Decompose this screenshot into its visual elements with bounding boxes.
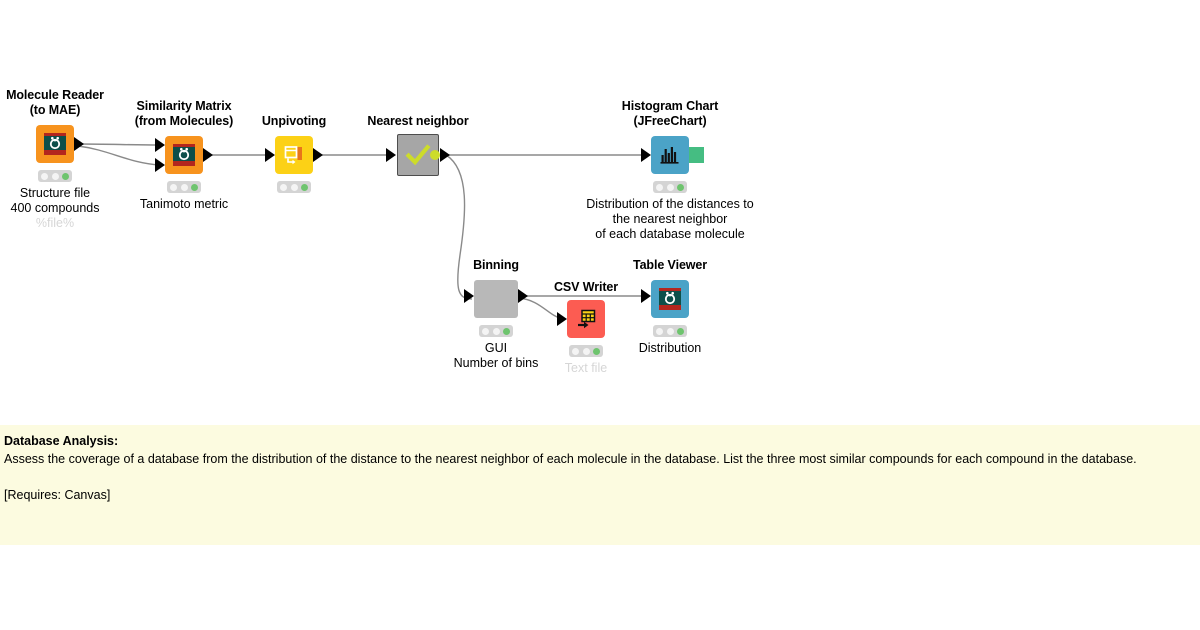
node-title-nearest-neighbor: Nearest neighbor — [367, 114, 468, 129]
node-title-csv-writer: CSV Writer — [554, 280, 618, 295]
node-body-csv-writer[interactable] — [567, 300, 605, 338]
edge-nearest-to-binning — [446, 155, 472, 299]
status-lamp-idle — [656, 328, 663, 335]
workflow-annotation-panel[interactable]: Database Analysis: Assess the coverage o… — [0, 425, 1200, 545]
port-triangle-icon — [386, 148, 396, 162]
molecule-icon — [44, 133, 66, 155]
port-triangle-icon — [155, 138, 165, 152]
status-histogram-chart — [653, 181, 687, 193]
status-lamp-done — [503, 328, 510, 335]
port-triangle-icon — [440, 148, 450, 162]
node-title-similarity-matrix: Similarity Matrix (from Molecules) — [135, 99, 233, 129]
node-body-similarity-matrix[interactable] — [165, 136, 203, 174]
port-triangle-icon — [265, 148, 275, 162]
node-subtitle-molecule-reader: Structure file 400 compounds — [11, 186, 100, 216]
port-variable-dot-icon — [430, 150, 440, 160]
csv-write-icon — [575, 308, 597, 330]
node-subtitle-binning: GUI Number of bins — [454, 341, 539, 371]
status-lamp-done — [677, 328, 684, 335]
node-subtitle-similarity-matrix: Tanimoto metric — [140, 197, 228, 212]
port-triangle-icon — [641, 148, 651, 162]
annotation-spacer — [4, 468, 1196, 486]
node-body-unpivoting[interactable] — [275, 136, 313, 174]
bar-chart-icon — [659, 144, 681, 166]
status-lamp-idle — [656, 184, 663, 191]
port-triangle-icon — [203, 148, 213, 162]
annotation-body: Assess the coverage of a database from t… — [4, 450, 1196, 468]
molecule-icon — [659, 288, 681, 310]
workflow-canvas[interactable]: Molecule Reader (to MAE) Structure file … — [0, 0, 1200, 415]
port-triangle-icon — [464, 289, 474, 303]
check-icon — [405, 142, 431, 168]
status-lamp-running — [667, 184, 674, 191]
status-lamp-running — [181, 184, 188, 191]
port-triangle-icon — [313, 148, 323, 162]
node-title-unpivoting: Unpivoting — [262, 114, 326, 129]
port-triangle-icon — [641, 289, 651, 303]
status-csv-writer — [569, 345, 603, 357]
status-lamp-running — [52, 173, 59, 180]
node-subtitle-histogram-chart: Distribution of the distances to the nea… — [586, 197, 753, 242]
status-lamp-done — [593, 348, 600, 355]
node-body-binning[interactable] — [474, 280, 518, 318]
node-body-histogram-chart[interactable] — [651, 136, 689, 174]
molecule-icon — [173, 144, 195, 166]
status-lamp-idle — [170, 184, 177, 191]
annotation-requires: [Requires: Canvas] — [4, 486, 1196, 504]
status-molecule-reader — [38, 170, 72, 182]
status-lamp-idle — [482, 328, 489, 335]
status-lamp-running — [291, 184, 298, 191]
table-unpivot-icon — [283, 144, 305, 166]
status-lamp-idle — [572, 348, 579, 355]
node-subtitle-table-viewer: Distribution — [639, 341, 702, 356]
status-lamp-running — [493, 328, 500, 335]
port-triangle-icon — [557, 312, 567, 326]
node-variable-molecule-reader: %file% — [36, 216, 74, 231]
status-lamp-idle — [280, 184, 287, 191]
status-binning — [479, 325, 513, 337]
status-table-viewer — [653, 325, 687, 337]
status-similarity-matrix — [167, 181, 201, 193]
status-lamp-idle — [41, 173, 48, 180]
port-triangle-icon — [155, 158, 165, 172]
status-lamp-done — [677, 184, 684, 191]
edge-reader-to-similarity-top — [78, 144, 160, 145]
node-variable-csv-writer: Text file — [565, 361, 607, 376]
status-lamp-running — [667, 328, 674, 335]
node-body-table-viewer[interactable] — [651, 280, 689, 318]
status-lamp-done — [62, 173, 69, 180]
edge-reader-to-similarity-bottom — [78, 146, 160, 165]
port-triangle-icon — [518, 289, 528, 303]
port-image-square-icon — [689, 147, 704, 163]
status-unpivoting — [277, 181, 311, 193]
node-title-binning: Binning — [473, 258, 519, 273]
node-body-molecule-reader[interactable] — [36, 125, 74, 163]
annotation-title: Database Analysis: — [4, 432, 1196, 450]
node-title-molecule-reader: Molecule Reader (to MAE) — [6, 88, 104, 118]
status-lamp-running — [583, 348, 590, 355]
node-title-table-viewer: Table Viewer — [633, 258, 707, 273]
port-triangle-icon — [74, 137, 84, 151]
node-title-histogram-chart: Histogram Chart (JFreeChart) — [622, 99, 718, 129]
status-lamp-done — [301, 184, 308, 191]
status-lamp-done — [191, 184, 198, 191]
